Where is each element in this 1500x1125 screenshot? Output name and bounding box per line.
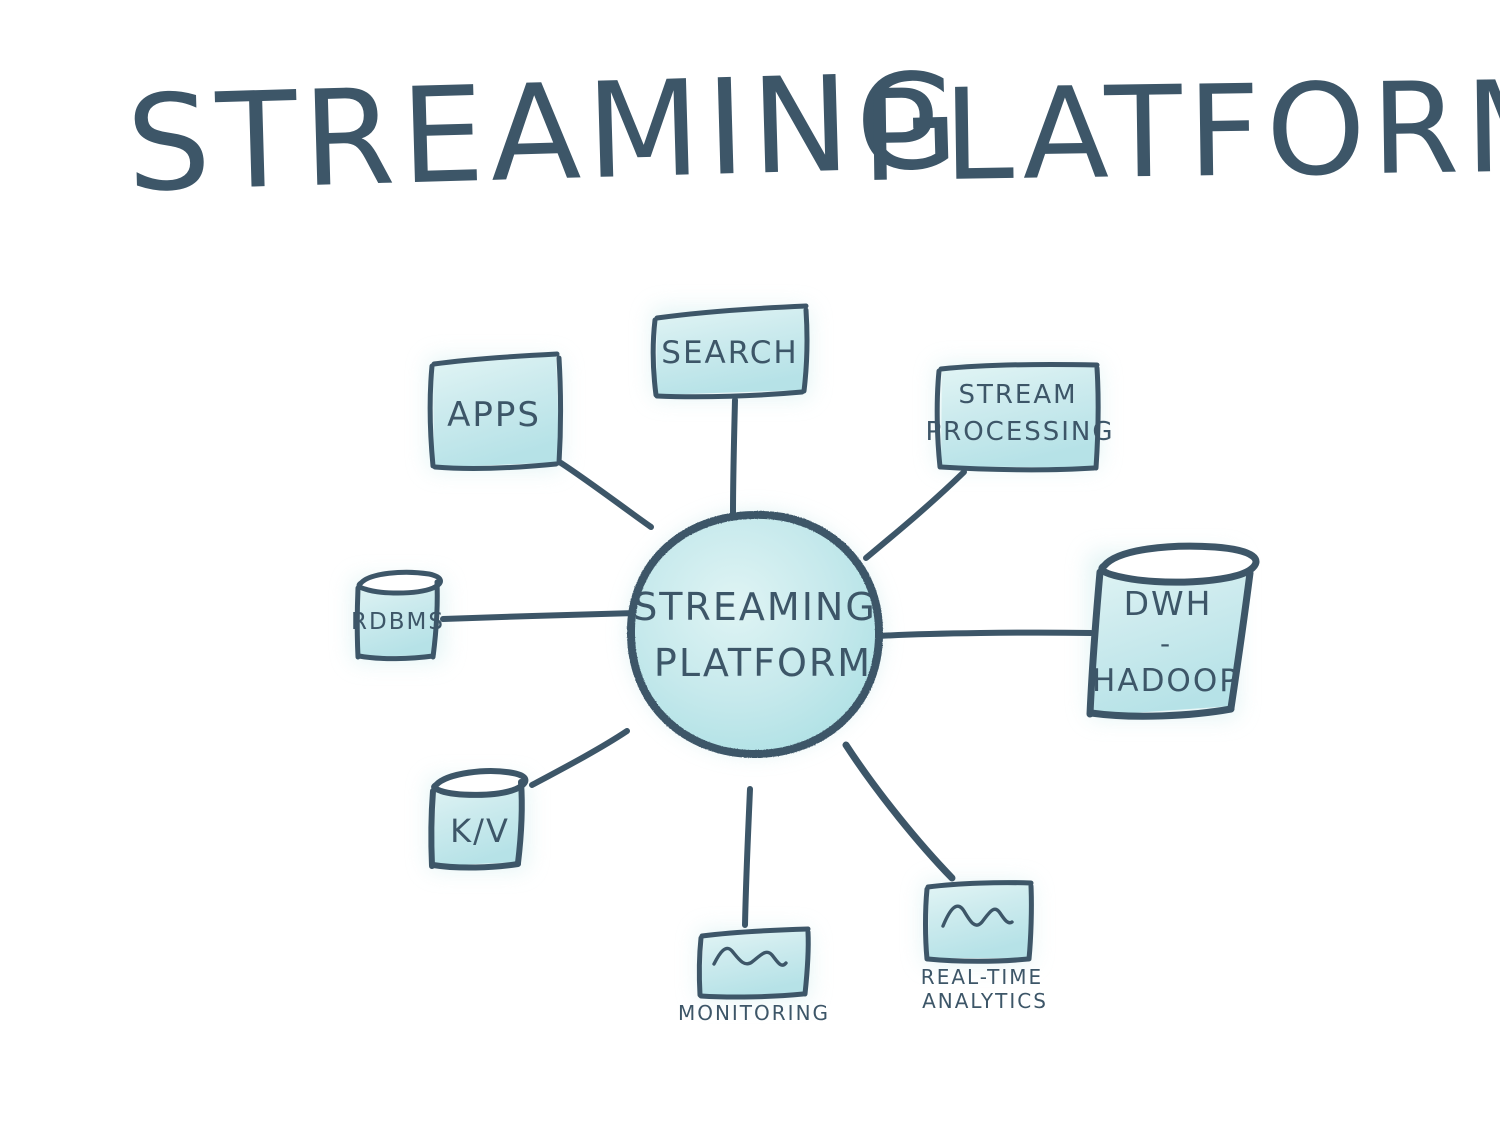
node-apps-edge-right [559,358,561,463]
node-dwh-hadoop-label-line-3: HADOOP [1092,663,1240,699]
node-stream-processing-label-line-2: PROCESSING [925,417,1114,447]
node-rdbms-edge-bottom [359,656,433,659]
node-stream-processing[interactable]: STREAM PROCESSING [925,364,1114,469]
node-rdbms[interactable]: RDBMS [351,572,445,658]
node-real-time-analytics-edge-bottom [928,959,1028,961]
connector-dwh-hadoop [879,633,1091,636]
node-real-time-analytics-label-line-2: ANALYTICS [922,989,1048,1013]
page-title-word-one: STREAMING [125,45,967,222]
node-search[interactable]: SEARCH [653,306,807,397]
node-kv-label: K/V [450,812,510,850]
node-dwh-hadoop-label-line-2: - [1160,627,1172,660]
node-streaming-platform[interactable]: STREAMING PLATFORM [631,514,879,754]
node-search-edge-left [653,320,656,395]
diagram-canvas: STREAMING PLATFORM [0,0,1500,1125]
node-streaming-platform-label-line-1: STREAMING [633,585,877,629]
node-kv[interactable]: K/V [431,771,525,867]
node-dwh-hadoop-label-line-1: DWH [1124,584,1213,623]
node-monitoring-fill [700,931,808,996]
node-real-time-analytics-label-line-1: REAL-TIME [921,965,1043,989]
node-real-time-analytics-fill [928,884,1030,958]
node-real-time-analytics-edge-left [926,889,928,959]
node-rdbms-top-lip [359,572,440,593]
node-monitoring-edge-left [699,938,701,995]
node-kv-edge-left [431,791,433,866]
node-real-time-analytics-edge-right [1029,886,1031,959]
node-kv-top-lip [434,771,525,795]
node-apps-edge-left [430,366,433,466]
node-rdbms-label: RDBMS [351,609,445,635]
node-dwh-hadoop[interactable]: DWH - HADOOP [1090,546,1256,716]
streaming-platform-diagram: STREAMING PLATFORM [0,0,1500,1125]
node-streaming-platform-label-line-2: PLATFORM [654,641,872,685]
node-search-label: SEARCH [661,335,798,371]
node-apps-label: APPS [447,395,541,435]
node-search-edge-right [804,310,807,391]
node-monitoring[interactable]: MONITORING [678,929,830,1025]
node-kv-edge-bottom [433,864,518,868]
node-apps[interactable]: APPS [430,354,560,468]
node-real-time-analytics[interactable]: REAL-TIME ANALYTICS [921,883,1048,1013]
page-title: STREAMING PLATFORM [125,45,1500,222]
node-monitoring-label: MONITORING [678,1001,830,1025]
connector-search [733,400,735,513]
node-stream-processing-label-line-1: STREAM [958,380,1077,410]
node-dwh-hadoop-top-lip [1102,546,1256,582]
page-title-word-two: PLATFORM [860,53,1500,210]
